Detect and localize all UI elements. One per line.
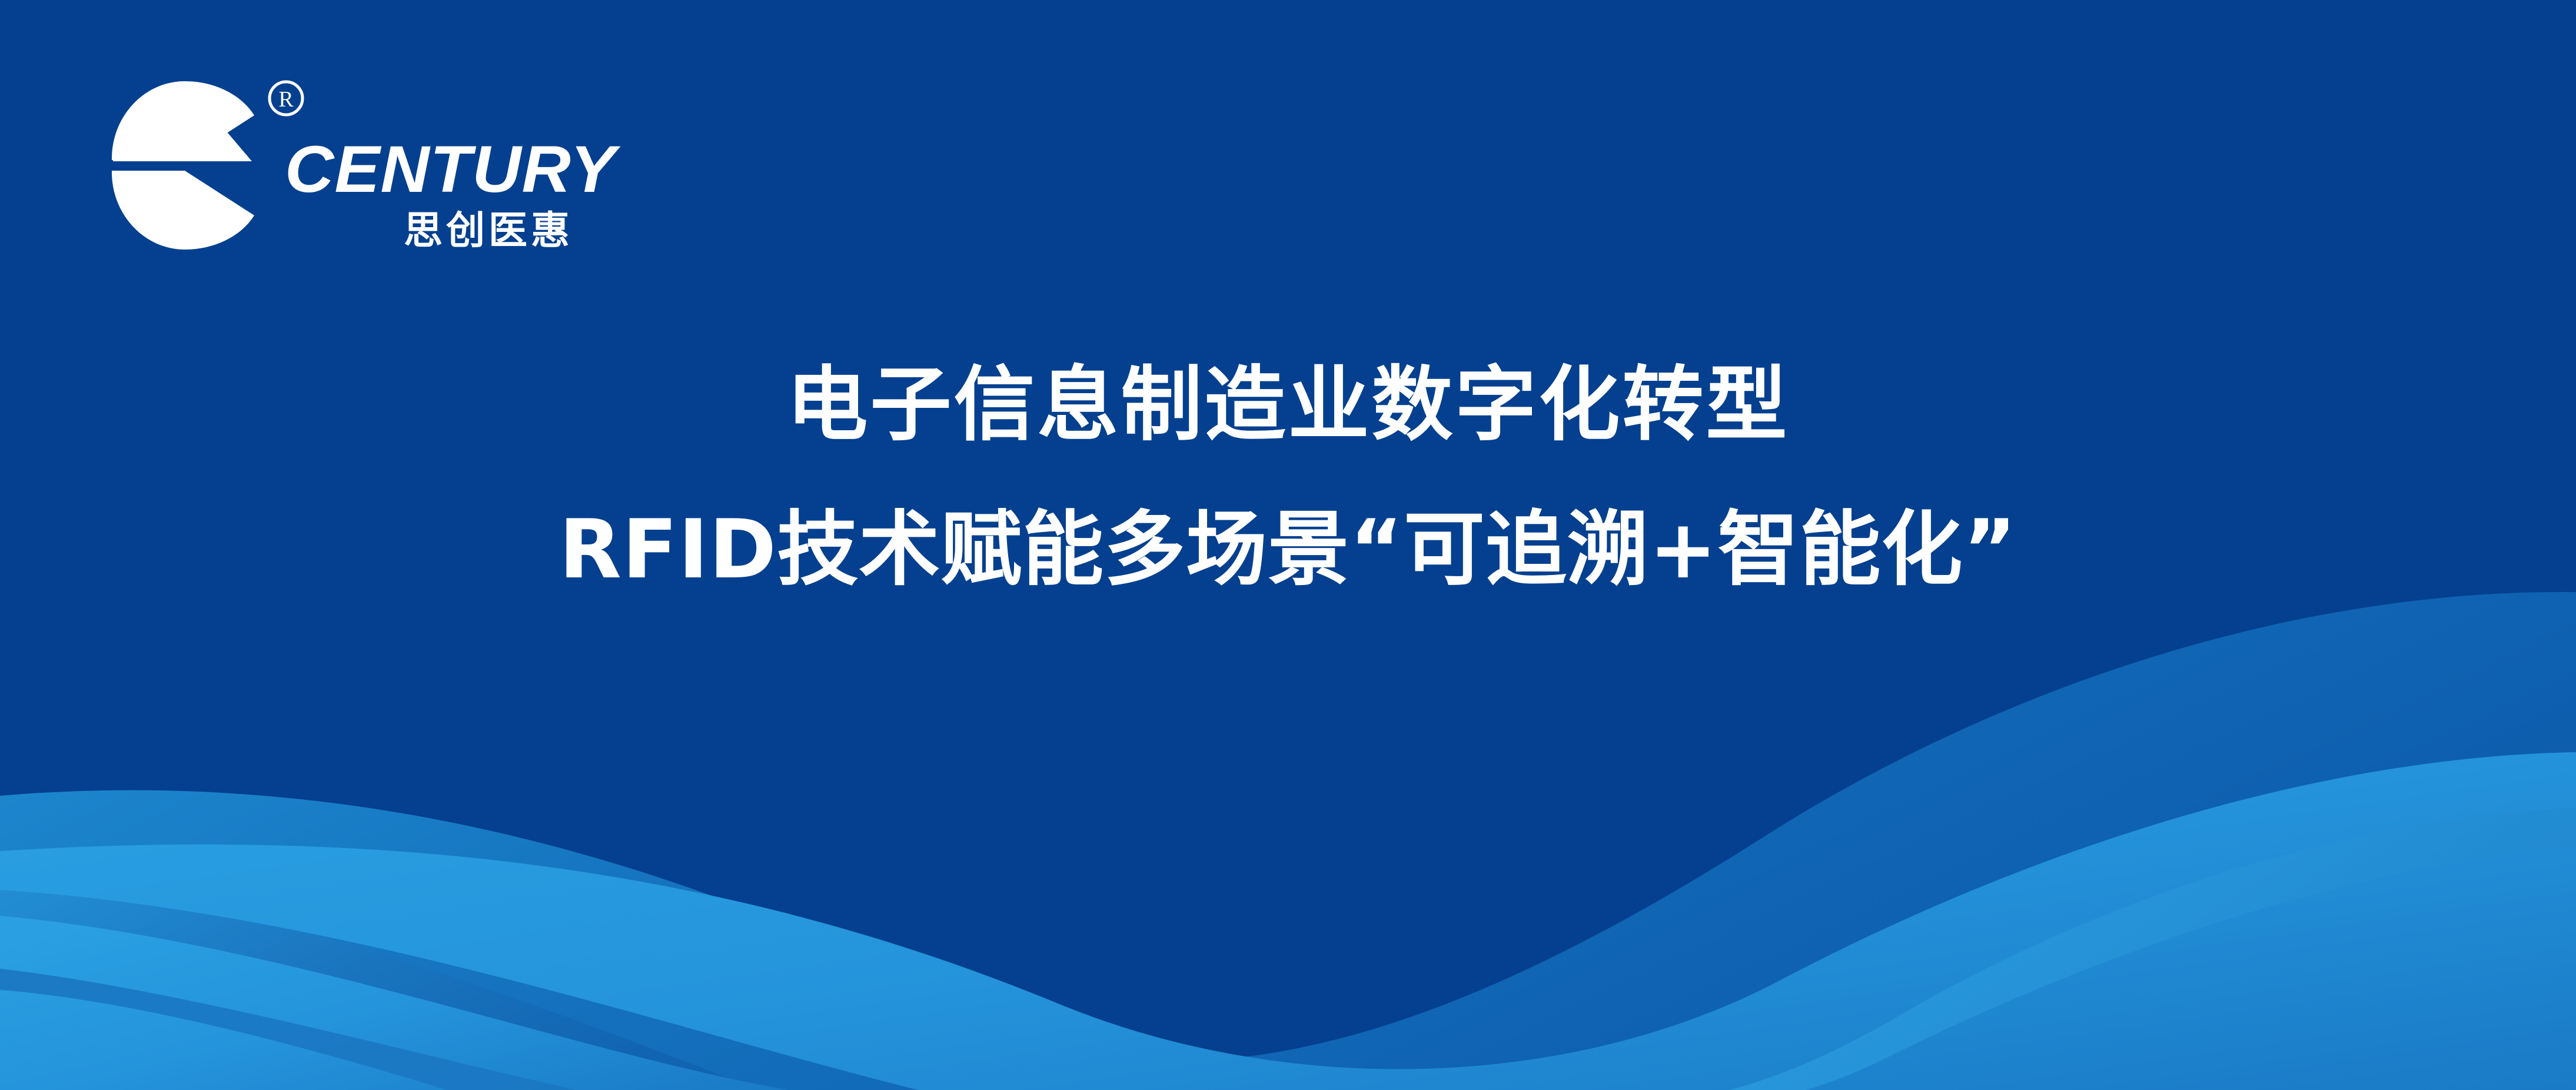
headline-block: 电子信息制造业数字化转型 RFID技术赋能多场景“可追溯+智能化” xyxy=(0,355,2576,599)
wave-band-light-right xyxy=(0,752,2576,1090)
logo-chinese-name: 思创医惠 xyxy=(404,211,573,250)
brand-logo[interactable]: R CENTURY 思创医惠 xyxy=(111,75,640,258)
wave-ribbon-accent xyxy=(1671,807,2576,1090)
wave-band-mid xyxy=(0,592,2576,1090)
century-c-mark-icon xyxy=(111,80,259,251)
wave-band-shadow xyxy=(0,870,759,1090)
wave-band-light xyxy=(0,916,789,1090)
wave-ribbon-left xyxy=(0,969,577,1090)
svg-text:R: R xyxy=(278,87,294,112)
promo-banner: R CENTURY 思创医惠 电子信息制造业数字化转型 RFID技术赋能多场景“… xyxy=(0,0,2576,1090)
registered-trademark-icon: R xyxy=(267,79,305,118)
headline-line-1: 电子信息制造业数字化转型 xyxy=(0,355,2576,454)
headline-line-2: RFID技术赋能多场景“可追溯+智能化” xyxy=(0,500,2576,599)
logo-wordmark: CENTURY xyxy=(285,137,616,202)
